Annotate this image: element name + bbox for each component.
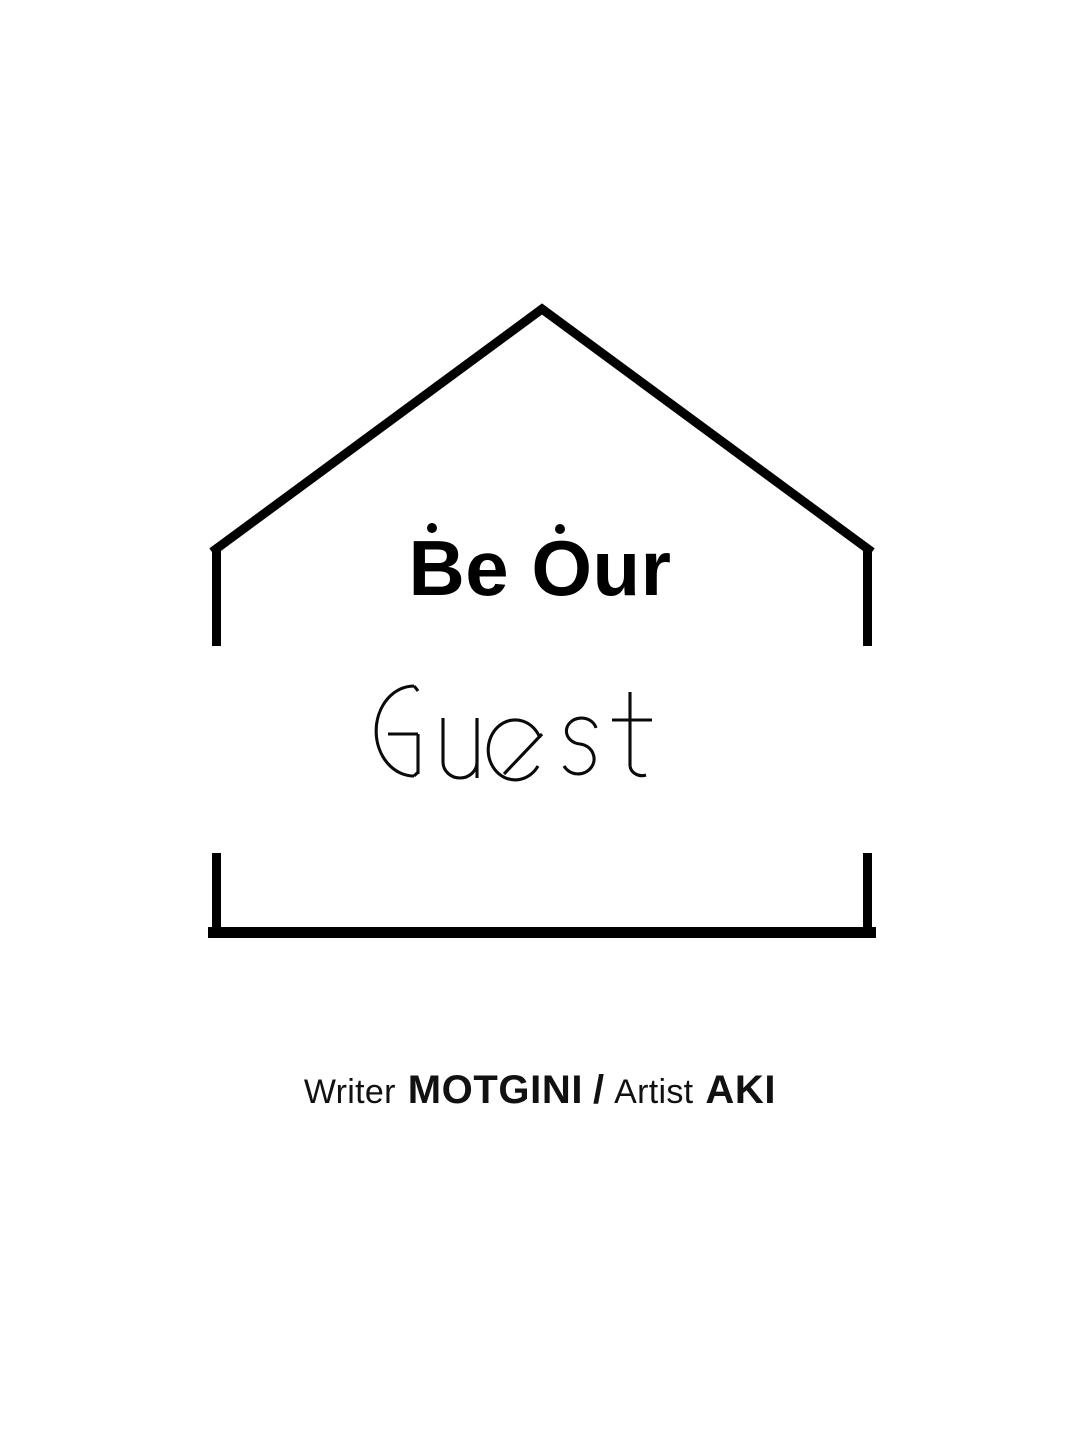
letter-g-bowl: [376, 686, 414, 776]
dot-over-o-icon: [555, 524, 565, 534]
title-line-be-our: Be Our: [0, 528, 1080, 608]
house-outline-graphic: [0, 0, 1080, 1438]
credits-line: WriterMOTGINI/ArtistAKI: [0, 1068, 1080, 1113]
writer-label: Writer: [304, 1073, 396, 1111]
title-line-guest: [340, 662, 744, 808]
guest-letterforms: [376, 686, 652, 780]
letter-g-bottom-tip: [414, 772, 418, 776]
letter-g-top-tip: [414, 686, 418, 691]
artist-name: AKI: [705, 1068, 776, 1112]
credits-separator: /: [583, 1068, 614, 1112]
title-accent-dots: [0, 0, 1080, 700]
roof-line: [212, 309, 872, 552]
letter-t-tail: [630, 766, 646, 776]
house-stroke-group: [208, 309, 876, 936]
cover-page: Be Our Guest: [0, 0, 1080, 1438]
letter-e-bowl: [488, 720, 540, 780]
dot-over-b-icon: [427, 523, 437, 533]
letter-e-diagonal-bar: [504, 734, 542, 774]
artist-label: Artist: [614, 1073, 693, 1111]
letter-u-bowl: [443, 718, 477, 778]
letter-s: [564, 718, 596, 774]
writer-name: MOTGINI: [408, 1068, 583, 1112]
